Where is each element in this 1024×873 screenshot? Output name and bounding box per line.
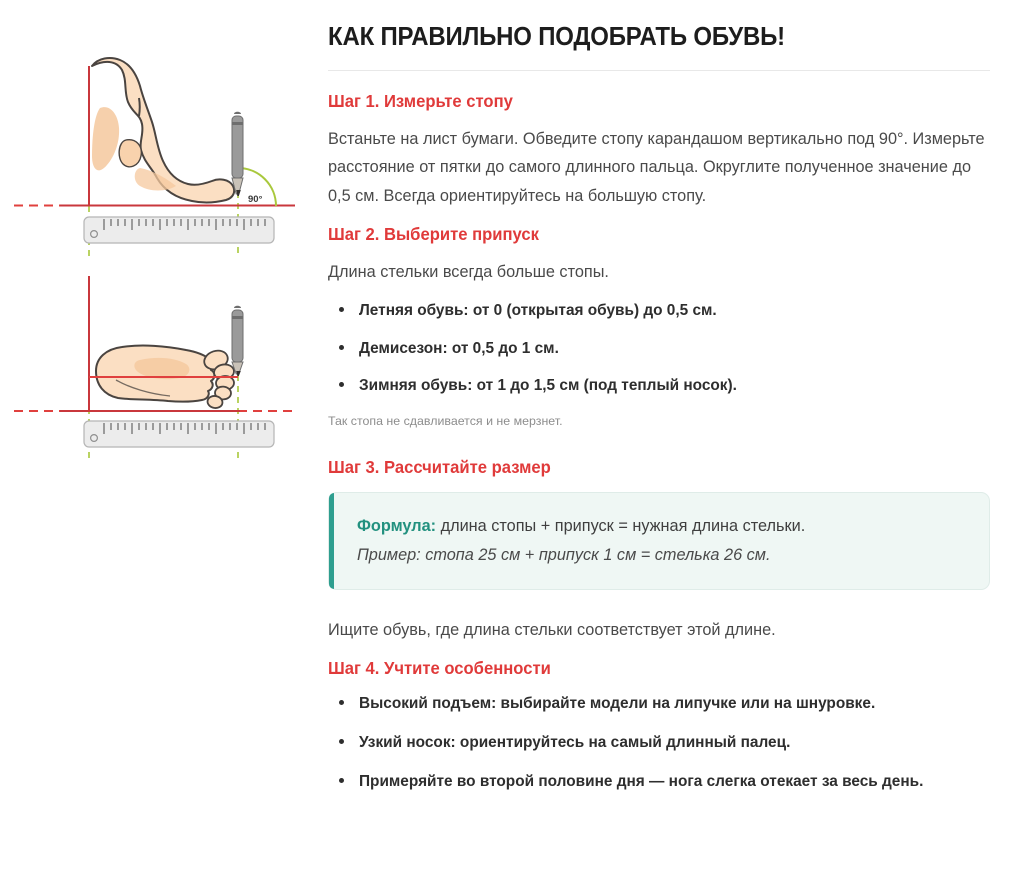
pencil-icon-2 [232,306,243,376]
step-4-heading: Шаг 4. Учтите особенности [328,658,957,680]
list-item: Демисезон: от 0,5 до 1 см. [328,338,990,360]
list-item: Узкий носок: ориентируйтесь на самый дли… [328,732,990,754]
shin-line [139,98,140,116]
angle-label: 90° [248,194,263,205]
foot-side-shading [92,107,119,170]
formula-line: Формула: длина стопы + припуск = нужная … [357,513,963,539]
step-2-lead: Длина стельки всегда больше стопы. [328,258,990,286]
article-content: КАК ПРАВИЛЬНО ПОДОБРАТЬ ОБУВЬ! Шаг 1. Из… [320,0,1024,873]
list-item: Высокий подъем: выбирайте модели на липу… [328,693,990,715]
foot-bottom-view-measure-diagram [0,268,320,468]
step-section-1: Шаг 1. Измерьте стопу Встаньте на лист б… [328,91,990,210]
step-2-note: Так стопа не сдавливается и не мерзнет. [328,412,990,431]
step-1-heading: Шаг 1. Измерьте стопу [328,91,957,113]
step-section-3: Шаг 3. Рассчитайте размер Формула: длина… [328,457,990,644]
formula-example: Пример: стопа 25 см + припуск 1 см = сте… [357,542,963,568]
title-divider [328,70,990,71]
page-title: КАК ПРАВИЛЬНО ПОДОБРАТЬ ОБУВЬ! [328,22,950,53]
ruler-icon-2 [84,421,274,447]
list-item: Зимняя обувь: от 1 до 1,5 см (под теплый… [328,375,990,397]
ruler-icon [84,217,274,243]
formula-text: длина стопы + припуск = нужная длина сте… [436,517,805,535]
page-root: 90° [0,0,1024,873]
step-3-heading: Шаг 3. Рассчитайте размер [328,457,957,479]
list-item: Примеряйте во второй половине дня — нога… [328,771,990,793]
step-3-after-text: Ищите обувь, где длина стельки соответст… [328,616,990,644]
step-section-2: Шаг 2. Выберите припуск Длина стельки вс… [328,224,990,431]
step-section-4: Шаг 4. Учтите особенности Высокий подъем… [328,658,990,794]
step-2-heading: Шаг 2. Выберите припуск [328,224,957,246]
formula-callout: Формула: длина стопы + припуск = нужная … [328,492,990,590]
list-item: Летняя обувь: от 0 (открытая обувь) до 0… [328,300,990,322]
ankle-bone-marker [119,140,141,167]
step-2-bullet-list: Летняя обувь: от 0 (открытая обувь) до 0… [328,300,990,397]
step-1-paragraph: Встаньте на лист бумаги. Обведите стопу … [328,125,990,209]
illustration-column: 90° [0,0,320,873]
formula-label: Формула: [357,517,436,535]
step-4-bullet-list: Высокий подъем: выбирайте модели на липу… [328,693,990,794]
foot-side-view-measure-diagram: 90° [0,18,320,268]
pencil-icon [232,112,243,196]
